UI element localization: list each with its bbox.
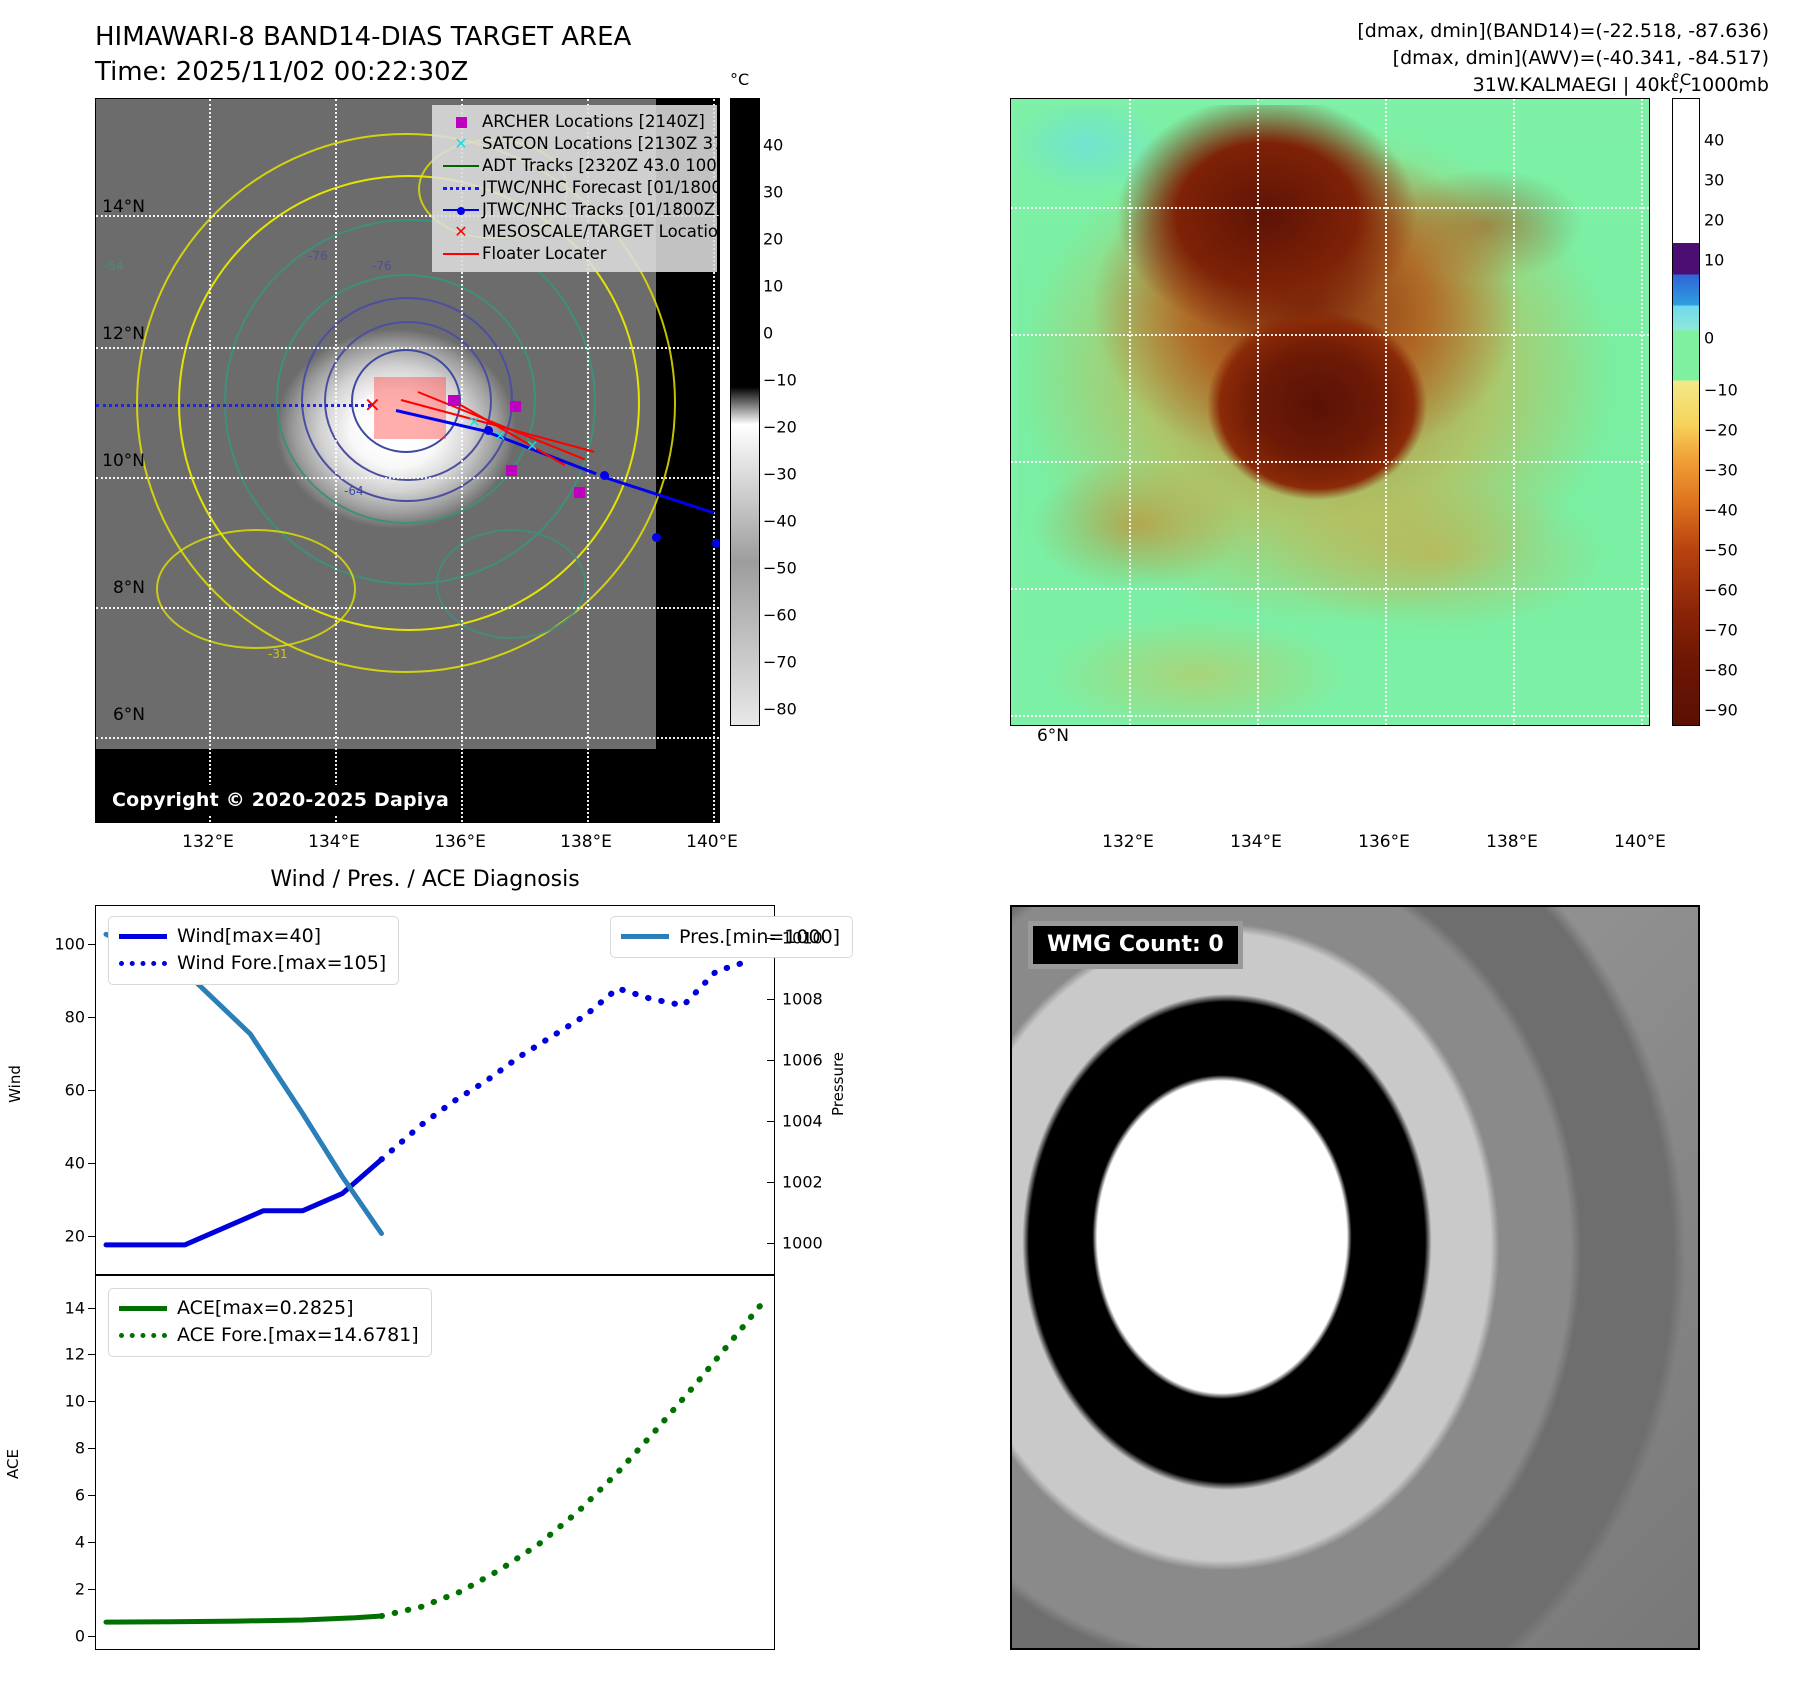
- magenta-square-icon: [440, 113, 482, 131]
- wind-legend[interactable]: Wind[max=40] Wind Fore.[max=105]: [108, 916, 399, 985]
- legend-item-jtwc-tracks[interactable]: JTWC/NHC Tracks [01/1800Z]: [440, 199, 709, 221]
- awv-colorbar-tick: 10: [1704, 251, 1724, 270]
- contour-label: -76: [372, 259, 392, 273]
- awv-colorbar-tick: −10: [1704, 381, 1738, 400]
- axis-tick-label: 80: [65, 1007, 85, 1026]
- contour-label: -54: [104, 259, 124, 273]
- awv-colorbar-tick: 40: [1704, 131, 1724, 150]
- archer-location-marker: [574, 487, 585, 498]
- satcon-location-marker: ✕: [526, 439, 539, 454]
- axis-tick-mark: [88, 1236, 96, 1237]
- legend-label: Wind[max=40]: [177, 923, 321, 951]
- axis-tick-label: 20: [65, 1227, 85, 1246]
- legend-label: JTWC/NHC Forecast [01/1800Z]: [482, 176, 720, 199]
- awv-colorbar-title: °C: [1672, 70, 1691, 89]
- dotted-blue-line-icon: [119, 961, 171, 966]
- awv-lon-tick: 134°E: [1230, 832, 1282, 852]
- axis-tick-label: 1004: [782, 1111, 823, 1130]
- jtwc-track-point: [712, 539, 720, 548]
- wmg-image: [1012, 907, 1698, 1648]
- contour-label: -76: [308, 249, 328, 263]
- axis-tick-mark: [767, 938, 775, 939]
- grid-line-lon: [209, 99, 211, 822]
- grid-line-lat: [96, 737, 719, 739]
- storm-summary: 31W.KALMAEGI | 40kt, 1000mb: [1357, 72, 1769, 99]
- legend-item-ace[interactable]: ACE[max=0.2825]: [119, 1295, 419, 1322]
- grid-line-lat: [1011, 207, 1649, 209]
- awv-extremes: [dmax, dmin](AWV)=(-40.341, -84.517): [1357, 45, 1769, 72]
- axis-tick-mark: [88, 1017, 96, 1018]
- axis-tick-label: 2: [75, 1580, 85, 1599]
- awv-colorbar-tick: −70: [1704, 621, 1738, 640]
- awv-colorbar-tick: 20: [1704, 211, 1724, 230]
- axis-tick-mark: [767, 1060, 775, 1061]
- awv-lat-tick: 8°N: [113, 578, 145, 598]
- satcon-location-marker: ✕: [494, 429, 507, 444]
- blue-dotted-line-icon: [440, 179, 482, 197]
- satcon-location-marker: ✕: [468, 415, 481, 430]
- axis-tick-mark: [88, 1090, 96, 1091]
- axis-tick-label: 1010: [782, 928, 823, 947]
- jtwc-forecast-track: [96, 404, 371, 407]
- solid-blue-line-icon: [119, 934, 171, 939]
- legend-label: Floater Locater: [482, 242, 607, 265]
- grid-line-lat: [96, 607, 719, 609]
- awv-lon-tick: 136°E: [1358, 832, 1410, 852]
- axis-tick-mark: [767, 1182, 775, 1183]
- awv-plot-area[interactable]: [1010, 98, 1650, 726]
- ir-colorbar-tick: −10: [763, 371, 797, 390]
- axis-tick-label: 1000: [782, 1233, 823, 1252]
- red-line-icon: [440, 245, 482, 263]
- awv-colorbar-tick: −30: [1704, 461, 1738, 480]
- wmg-panel[interactable]: WMG Count: 0: [1010, 905, 1700, 1650]
- axis-tick-mark: [88, 1308, 96, 1309]
- jtwc-track-point: [600, 471, 609, 480]
- ir-colorbar[interactable]: [730, 98, 760, 726]
- ir-lon-tick: 140°E: [686, 832, 738, 852]
- ir-lon-tick: 134°E: [308, 832, 360, 852]
- legend-item-wind-forecast[interactable]: Wind Fore.[max=105]: [119, 950, 386, 977]
- axis-tick-label: 0: [75, 1627, 85, 1646]
- legend-item-archer[interactable]: ARCHER Locations [2140Z]: [440, 111, 709, 133]
- axis-tick-mark: [767, 999, 775, 1000]
- archer-location-marker: [510, 401, 521, 412]
- grid-line-lon: [1129, 99, 1131, 725]
- awv-panel[interactable]: [1010, 98, 1650, 726]
- ir-legend[interactable]: ARCHER Locations [2140Z] ✕ SATCON Locati…: [432, 105, 717, 272]
- legend-item-wind[interactable]: Wind[max=40]: [119, 923, 386, 950]
- ir-colorbar-title: °C: [730, 70, 749, 89]
- legend-label: ACE Fore.[max=14.6781]: [177, 1322, 419, 1350]
- axis-tick-label: 10: [65, 1392, 85, 1411]
- axis-tick-mark: [88, 1354, 96, 1355]
- awv-colorbar-tick: 30: [1704, 171, 1724, 190]
- awv-lon-tick: 138°E: [1486, 832, 1538, 852]
- awv-colorbar-tick: −40: [1704, 501, 1738, 520]
- axis-tick-mark: [88, 1401, 96, 1402]
- legend-label: JTWC/NHC Tracks [01/1800Z]: [482, 198, 720, 221]
- axis-tick-label: 40: [65, 1154, 85, 1173]
- legend-item-mesoscale[interactable]: ✕ MESOSCALE/TARGET Location: [440, 221, 709, 243]
- red-x-icon: ✕: [440, 223, 482, 241]
- axis-tick-mark: [88, 1448, 96, 1449]
- awv-lat-tick: 6°N: [113, 705, 145, 725]
- legend-item-adt[interactable]: ADT Tracks [2320Z 43.0 1003.3]: [440, 155, 709, 177]
- awv-colorbar-tick: −90: [1704, 701, 1738, 720]
- mesoscale-target-marker: ✕: [364, 395, 381, 415]
- copyright-badge: Copyright © 2020-2025 Dapiya: [102, 785, 459, 816]
- ir-colorbar-tick: −20: [763, 418, 797, 437]
- axis-tick-label: 8: [75, 1439, 85, 1458]
- awv-lat-tick: 10°N: [102, 451, 145, 471]
- ir-plot-area[interactable]: -76 -54 -64 -31 -76: [95, 98, 720, 823]
- ir-lat-tick: 6°N: [1037, 726, 1069, 746]
- cyan-x-icon: ✕: [440, 135, 482, 153]
- ir-colorbar-tick: −50: [763, 559, 797, 578]
- grid-line-lat: [1011, 588, 1649, 590]
- solid-green-line-icon: [119, 1306, 171, 1311]
- axis-tick-mark: [88, 1636, 96, 1637]
- dotted-green-line-icon: [119, 1333, 171, 1338]
- archer-location-marker: [506, 465, 517, 476]
- ir-colorbar-tick: 40: [763, 136, 783, 155]
- legend-item-jtwc-forecast[interactable]: JTWC/NHC Forecast [01/1800Z]: [440, 177, 709, 199]
- ir-lon-tick: 136°E: [434, 832, 486, 852]
- axis-tick-label: 14: [65, 1298, 85, 1317]
- legend-label: MESOSCALE/TARGET Location: [482, 220, 720, 243]
- awv-colorbar-tick: −60: [1704, 581, 1738, 600]
- ir-colorbar-tick: −30: [763, 465, 797, 484]
- contour-ring: [156, 529, 356, 649]
- contour-label: -31: [268, 647, 288, 661]
- axis-tick-label: 6: [75, 1486, 85, 1505]
- legend-item-satcon[interactable]: ✕ SATCON Locations [2130Z 37 1003]: [440, 133, 709, 155]
- axis-tick-mark: [767, 1243, 775, 1244]
- grid-line-lat: [1011, 334, 1649, 336]
- ir-colorbar-tick: 0: [763, 324, 773, 343]
- axis-tick-label: 60: [65, 1081, 85, 1100]
- wind-axis-label: Wind: [6, 1065, 24, 1103]
- ir-colorbar-tick: 30: [763, 183, 783, 202]
- axis-tick-mark: [88, 1542, 96, 1543]
- green-line-icon: [440, 157, 482, 175]
- ir-lon-tick: 138°E: [560, 832, 612, 852]
- axis-tick-mark: [767, 1121, 775, 1122]
- ir-lon-tick: 132°E: [182, 832, 234, 852]
- legend-label: SATCON Locations [2130Z 37 1003]: [482, 132, 720, 155]
- grid-line-lat: [1011, 461, 1649, 463]
- grid-line-lon: [1641, 99, 1643, 725]
- grid-line-lon: [1385, 99, 1387, 725]
- solid-teal-line-icon: [621, 934, 673, 939]
- axis-tick-label: 1008: [782, 989, 823, 1008]
- awv-colorbar-tick: −80: [1704, 661, 1738, 680]
- ir-colorbar-tick: −70: [763, 653, 797, 672]
- awv-colorbar[interactable]: [1672, 98, 1700, 726]
- awv-colorbar-tick: 0: [1704, 329, 1714, 348]
- diagnosis-title: Wind / Pres. / ACE Diagnosis: [95, 867, 755, 892]
- legend-label: ACE[max=0.2825]: [177, 1295, 354, 1323]
- axis-tick-label: 4: [75, 1533, 85, 1552]
- ir-colorbar-tick: 20: [763, 230, 783, 249]
- grid-line-lat: [1011, 715, 1649, 717]
- axis-tick-label: 100: [54, 934, 85, 953]
- header-info: [dmax, dmin](BAND14)=(-22.518, -87.636) …: [1357, 18, 1769, 99]
- awv-lon-tick: 132°E: [1102, 832, 1154, 852]
- awv-lat-tick: 12°N: [102, 324, 145, 344]
- grid-line-lon: [1257, 99, 1259, 725]
- awv-colorbar-tick: −20: [1704, 421, 1738, 440]
- dashboard-root: HIMAWARI-8 BAND14-DIAS TARGET AREA Time:…: [0, 0, 1797, 1690]
- legend-label: ARCHER Locations [2140Z]: [482, 110, 705, 133]
- axis-tick-label: 12: [65, 1345, 85, 1364]
- awv-colorbar-tick: −50: [1704, 541, 1738, 560]
- grid-line-lat: [96, 347, 719, 349]
- awv-lon-tick: 140°E: [1614, 832, 1666, 852]
- awv-lat-tick: 14°N: [102, 197, 145, 217]
- grid-line-lon: [1513, 99, 1515, 725]
- legend-item-ace-forecast[interactable]: ACE Fore.[max=14.6781]: [119, 1322, 419, 1349]
- ace-axis-label: ACE: [4, 1449, 22, 1479]
- legend-item-floater[interactable]: Floater Locater: [440, 243, 709, 265]
- ir-band14-panel[interactable]: -76 -54 -64 -31 -76: [95, 98, 720, 823]
- ir-colorbar-tick: 10: [763, 277, 783, 296]
- grid-line-lat: [96, 477, 719, 479]
- axis-tick-mark: [88, 944, 96, 945]
- axis-tick-mark: [88, 1163, 96, 1164]
- axis-tick-label: 1002: [782, 1172, 823, 1191]
- title-line-1: HIMAWARI-8 BAND14-DIAS TARGET AREA: [95, 20, 855, 55]
- archer-location-marker: [448, 395, 459, 406]
- jtwc-track-point: [484, 426, 493, 435]
- legend-label: Wind Fore.[max=105]: [177, 950, 386, 978]
- axis-tick-label: 1006: [782, 1050, 823, 1069]
- grid-line-lon: [335, 99, 337, 822]
- legend-label: ADT Tracks [2320Z 43.0 1003.3]: [482, 154, 720, 177]
- pressure-axis-label: Pressure: [829, 1052, 847, 1116]
- band14-extremes: [dmax, dmin](BAND14)=(-22.518, -87.636): [1357, 18, 1769, 45]
- wmg-count-badge: WMG Count: 0: [1028, 921, 1243, 969]
- ir-colorbar-tick: −80: [763, 700, 797, 719]
- jtwc-track-point: [652, 533, 661, 542]
- ir-colorbar-tick: −60: [763, 606, 797, 625]
- axis-tick-mark: [88, 1589, 96, 1590]
- awv-satellite-image: [1017, 105, 1645, 721]
- contour-ring: [436, 529, 586, 639]
- ir-colorbar-tick: −40: [763, 512, 797, 531]
- axis-tick-mark: [88, 1495, 96, 1496]
- ace-legend[interactable]: ACE[max=0.2825] ACE Fore.[max=14.6781]: [108, 1288, 432, 1357]
- blue-line-marker-icon: [440, 201, 482, 219]
- contour-label: -64: [344, 484, 364, 498]
